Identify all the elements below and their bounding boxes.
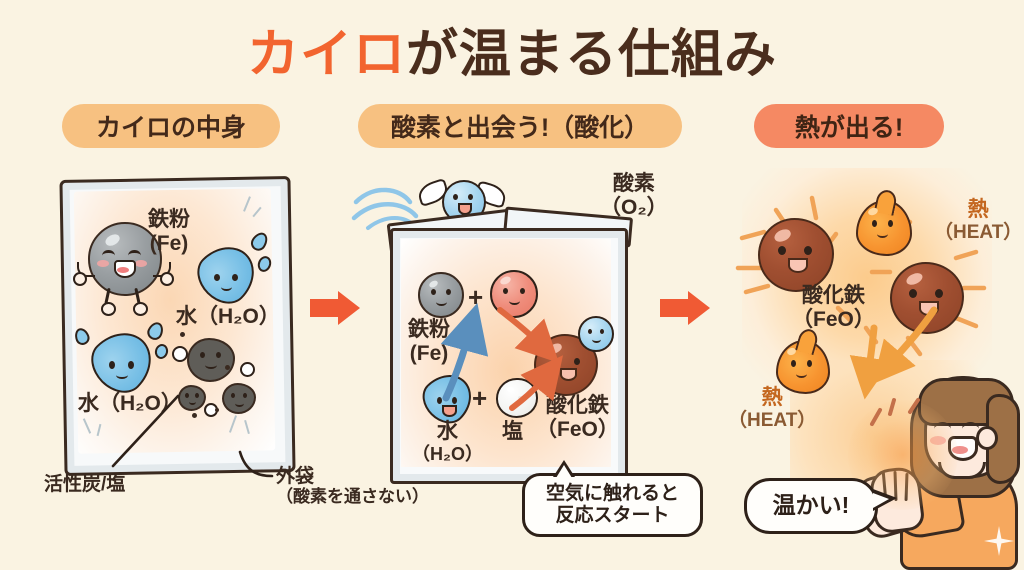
bubble-tail-fill <box>556 465 572 478</box>
oxygen-label-line1: 酸素 <box>600 172 668 196</box>
section-header-3: 熱が出る! <box>754 104 944 148</box>
flame1-eye-left <box>872 220 877 227</box>
oxygen-label: 酸素 （O₂） <box>600 172 668 219</box>
carbon-salt-callout: 活性炭/塩 <box>44 474 125 495</box>
girl-eye-right <box>962 422 979 436</box>
flame2-eye-right <box>807 360 812 367</box>
reaction-start-bubble-line1: 空気に触れると <box>546 483 679 505</box>
flame2-mouth <box>796 370 807 378</box>
heat-label-top: 熱 （HEAT） <box>934 198 1022 243</box>
feo2-eye-right <box>935 289 943 298</box>
feo-ball-1 <box>758 218 834 292</box>
flow-arrow-1 <box>310 290 362 326</box>
heat-flame-2 <box>776 330 832 392</box>
feo2-eye-left <box>909 289 917 298</box>
section-header-2: 酸素と出会う!（酸化） <box>358 104 682 148</box>
heat-label-top-line2: （HEAT） <box>934 222 1022 243</box>
flame2-eye-left <box>791 360 796 367</box>
heat-label-bottom: 熱 （HEAT） <box>728 386 816 431</box>
section-header-3-label: 熱が出る! <box>795 108 903 144</box>
title-rest: が温まる仕組み <box>406 26 777 84</box>
heat-label-top-line1: 熱 <box>934 198 1022 222</box>
heat-flame-1 <box>856 192 912 254</box>
heat-label-bottom-line1: 熱 <box>728 386 816 410</box>
reaction-start-bubble-line2: 反応スタート <box>555 505 669 527</box>
girl-bubble-tail-fill <box>873 493 889 508</box>
outer-bag-callout-line2: （酸素を通さない） <box>276 487 429 506</box>
girl-speech-bubble: 温かい! <box>744 478 878 534</box>
feo1-eye-right <box>804 246 812 255</box>
girl-speech-text: 温かい! <box>773 492 850 519</box>
feo1-mouth <box>788 258 808 273</box>
girl-ear <box>976 426 998 450</box>
heat-label-bottom-line2: （HEAT） <box>728 410 816 431</box>
reaction-arrows <box>390 280 630 480</box>
flame1-mouth <box>877 230 888 238</box>
flow-arrow-2 <box>660 290 712 326</box>
reaction-start-bubble: 空気に触れると 反応スタート <box>522 473 703 537</box>
infographic-canvas: カイロが温まる仕組み カイロの中身 酸素と出会う!（酸化） 熱が出る! <box>0 0 1024 559</box>
section-header-2-label: 酸素と出会う!（酸化） <box>391 108 649 144</box>
feo1-eye-left <box>778 246 786 255</box>
hand-heat-ticks <box>866 398 956 458</box>
flame1-eye-right <box>888 220 893 227</box>
